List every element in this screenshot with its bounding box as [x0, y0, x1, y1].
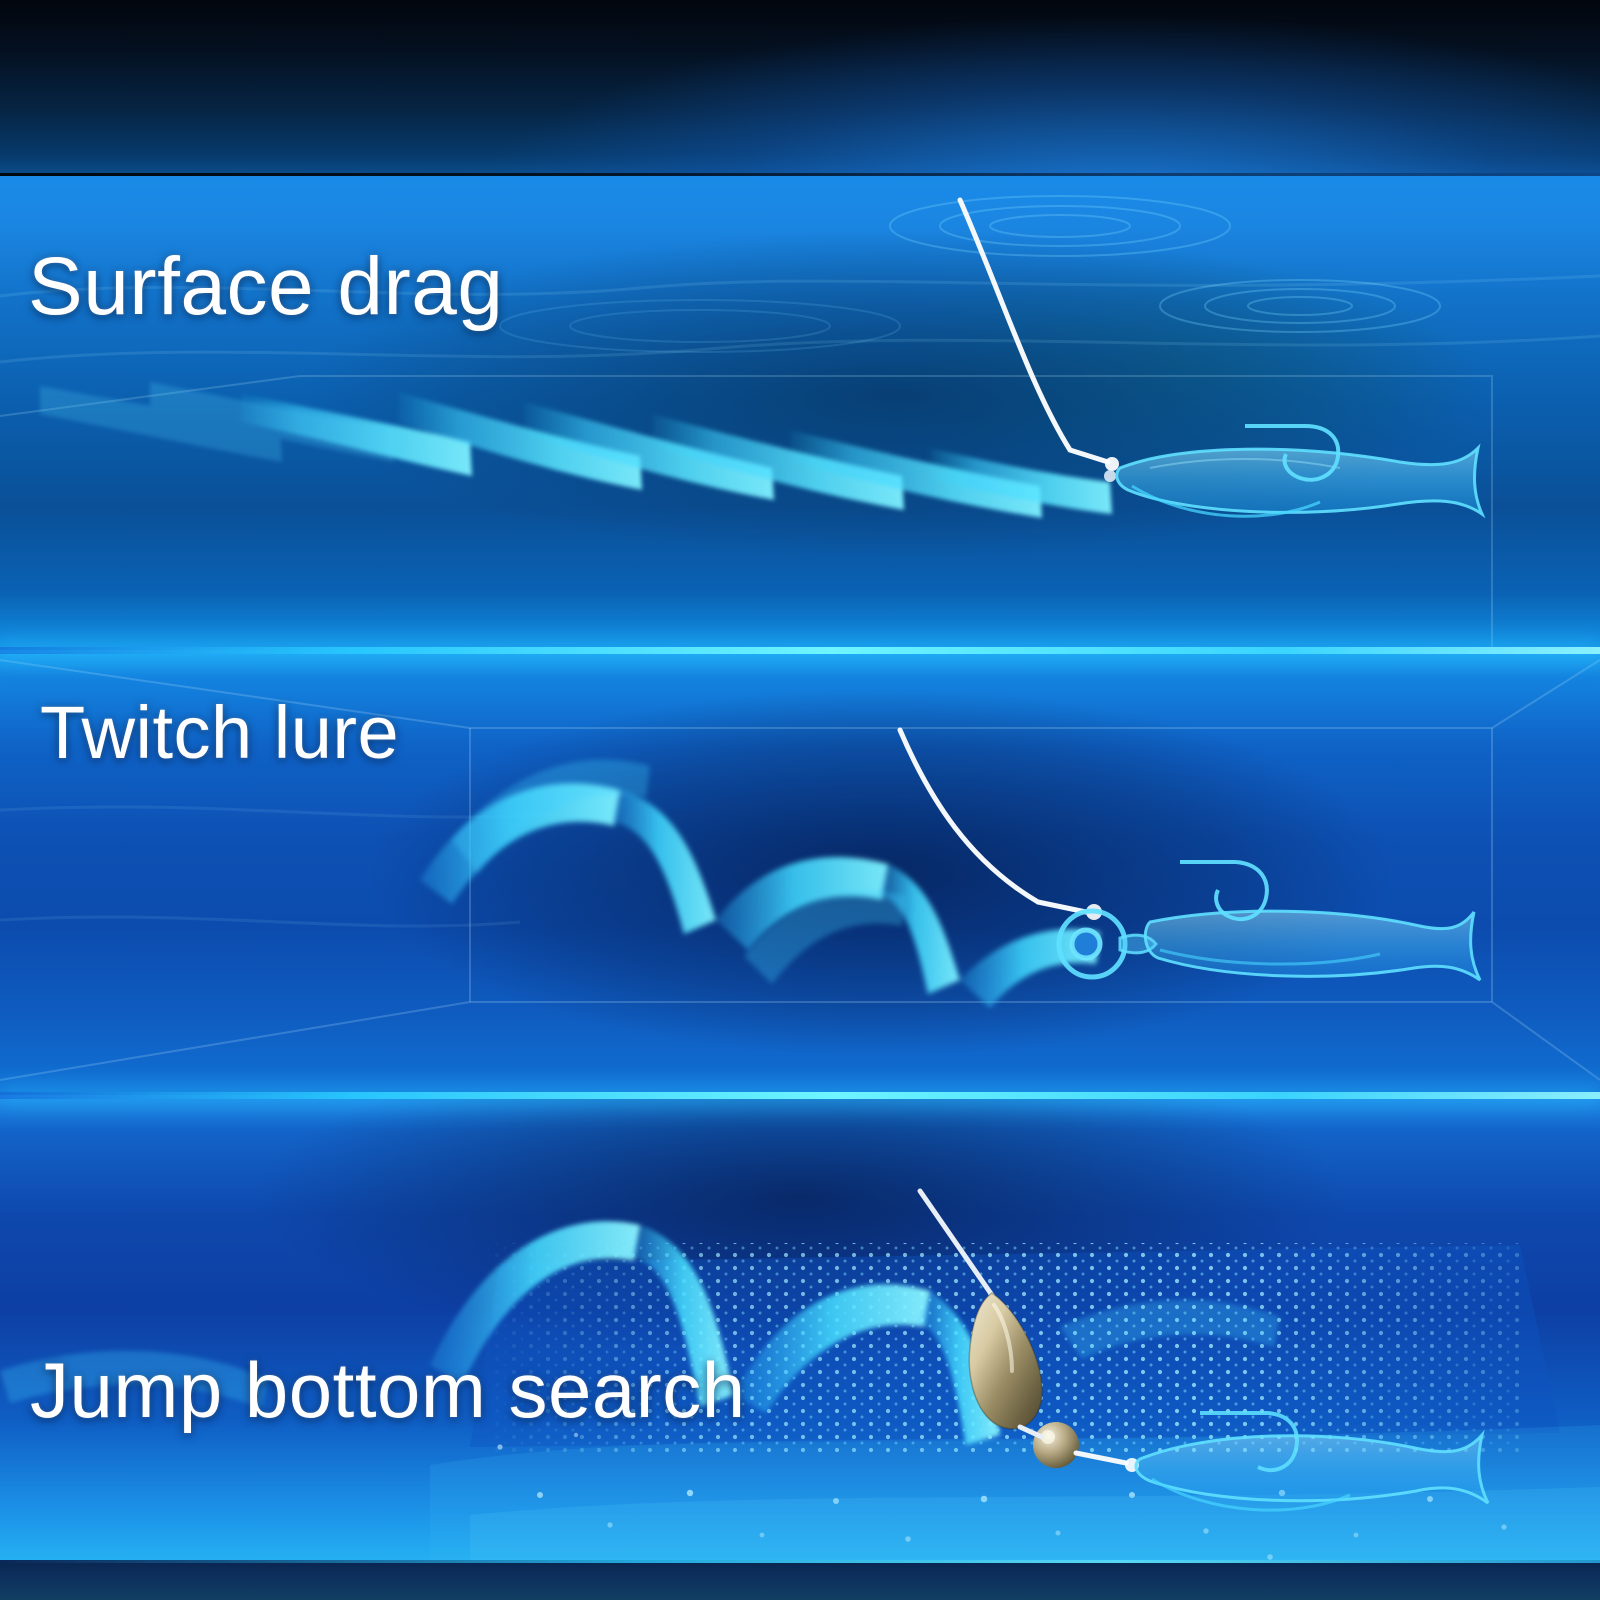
line-knot-icon [1105, 457, 1119, 471]
fishing-line-icon [920, 1191, 996, 1301]
bead-icon [1033, 1422, 1079, 1468]
soft-plastic-swimbait-icon [1145, 911, 1480, 980]
panel-label-twitch-lure: Twitch lure [40, 690, 399, 775]
teardrop-sinker-icon [969, 1293, 1042, 1429]
soft-plastic-swimbait-icon [1136, 1435, 1488, 1510]
top-dark-band [0, 0, 1600, 176]
panel-label-jump-bottom-search: Jump bottom search [30, 1345, 746, 1436]
fishing-line-icon [900, 730, 1038, 902]
panel-label-surface-drag: Surface drag [28, 240, 504, 334]
panel-divider-1 [0, 647, 1600, 654]
bottom-dark-band [0, 1560, 1600, 1600]
jump-bottom-tackle [0, 1095, 1600, 1560]
panel-divider-2 [0, 1092, 1600, 1099]
fishing-line-icon [960, 200, 1070, 450]
jig-head-icon [1059, 911, 1156, 977]
soft-plastic-swimbait-icon [1117, 448, 1482, 516]
jig-head-eye-icon [1072, 930, 1100, 958]
product-illustration: Surface drag Twitch lure Jump bottom sea… [0, 0, 1600, 1600]
panel-jump-bottom-search [0, 1095, 1600, 1560]
